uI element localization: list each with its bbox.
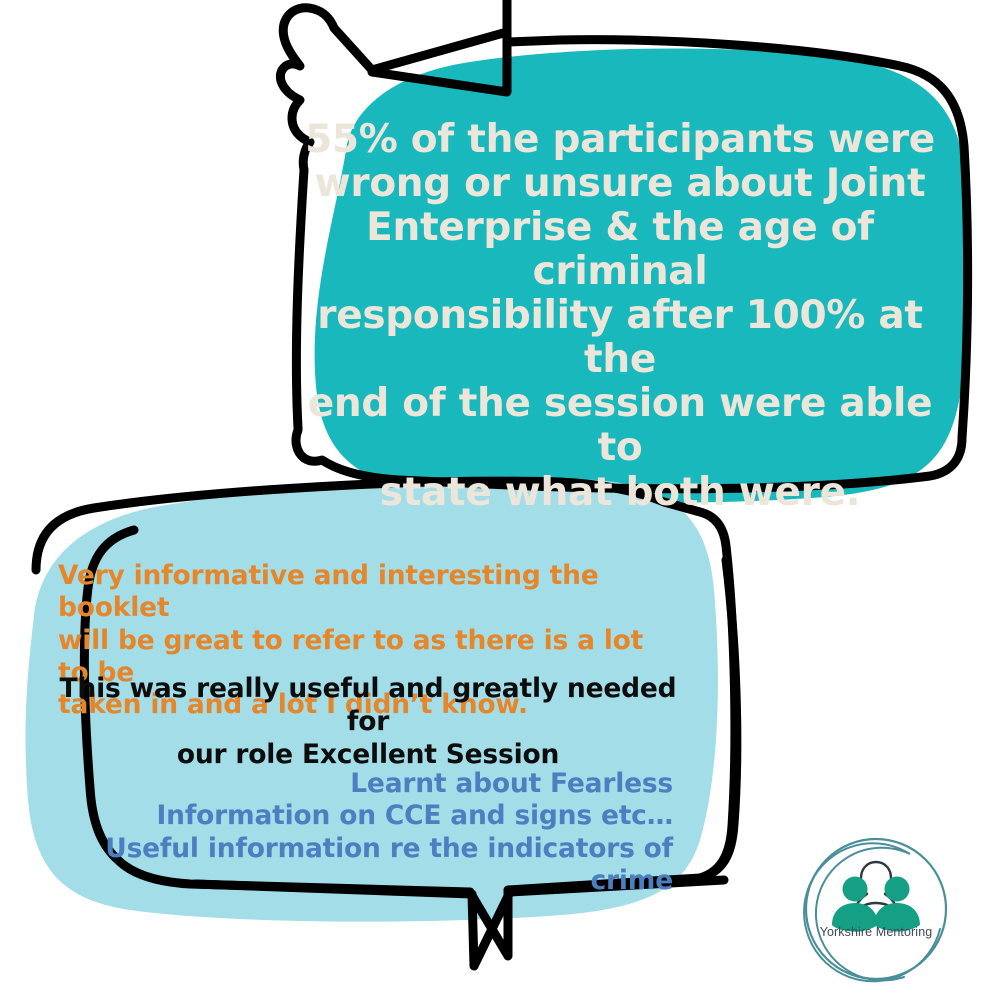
logo-caption: Yorkshire Mentoring	[800, 925, 952, 939]
quote-blue-block: Learnt about Fearless Information on CCE…	[58, 768, 673, 897]
quote-black-block: This was really useful and greatly neede…	[58, 672, 678, 771]
quote-blue-text: Learnt about Fearless Information on CCE…	[58, 768, 673, 897]
poster-canvas: 55% of the participants were wrong or un…	[0, 0, 1000, 1000]
statistic-text: 55% of the participants were wrong or un…	[300, 118, 940, 515]
logo-graphic	[800, 833, 952, 985]
statistic-text-block: 55% of the participants were wrong or un…	[300, 118, 940, 515]
yorkshire-mentoring-logo: Yorkshire Mentoring	[800, 833, 952, 985]
quote-black-text: This was really useful and greatly neede…	[58, 672, 678, 771]
